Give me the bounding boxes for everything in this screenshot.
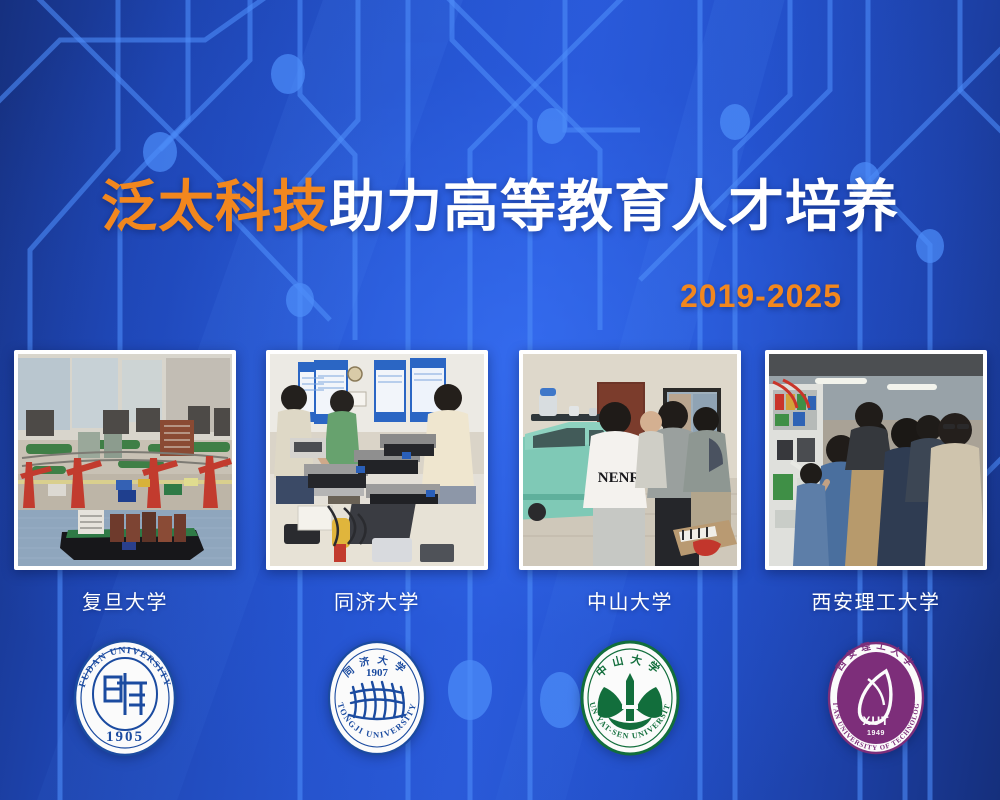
photo-card xyxy=(266,350,488,570)
svg-text:1907: 1907 xyxy=(366,667,389,679)
presentation-slide: 泛太科技助力高等教育人才培养 2019-2025 xyxy=(0,0,1000,800)
subtitle-year-range: 2019-2025 xyxy=(680,278,842,315)
port-city-scale-model-photo xyxy=(18,354,232,566)
svg-text:1949: 1949 xyxy=(867,730,885,737)
xian-university-of-technology-logo: 西安理工大学 XI'AN UNIVERSITY OF TECHNOLOGY XU… xyxy=(765,634,987,762)
svg-text:1905: 1905 xyxy=(106,729,144,745)
electronics-lab-students-photo xyxy=(270,354,484,566)
sun-yat-sen-university-logo: 中山大学 SUN YAT-SEN UNIVERSITY xyxy=(519,634,741,762)
title-plain-text: 助力高等教育人才培养 xyxy=(329,175,899,238)
university-caption: 中山大学 xyxy=(519,586,741,615)
photo-card xyxy=(765,350,987,570)
university-caption: 复旦大学 xyxy=(14,586,236,615)
photo-card: NENR xyxy=(519,350,741,570)
industrial-equipment-visit-photo xyxy=(769,354,983,566)
svg-text:NENR: NENR xyxy=(598,470,641,486)
page-title: 泛太科技助力高等教育人才培养 xyxy=(0,176,1000,239)
title-accent-text: 泛太科技 xyxy=(101,175,329,238)
university-caption: 西安理工大学 xyxy=(765,586,987,615)
university-caption: 同济大学 xyxy=(266,586,488,615)
autonomous-vehicle-demo-photo: NENR xyxy=(523,354,737,566)
photo-card xyxy=(14,350,236,570)
photo-gallery: NENR xyxy=(0,350,1000,572)
title-block: 泛太科技助力高等教育人才培养 xyxy=(0,176,1000,239)
tongji-university-logo: 同济大学 TONGJI UNIVERSITY 1907 xyxy=(266,634,488,762)
fudan-university-logo: FUDAN UNIVERSITY 1905 xyxy=(14,634,236,762)
svg-text:XUT: XUT xyxy=(863,714,890,728)
